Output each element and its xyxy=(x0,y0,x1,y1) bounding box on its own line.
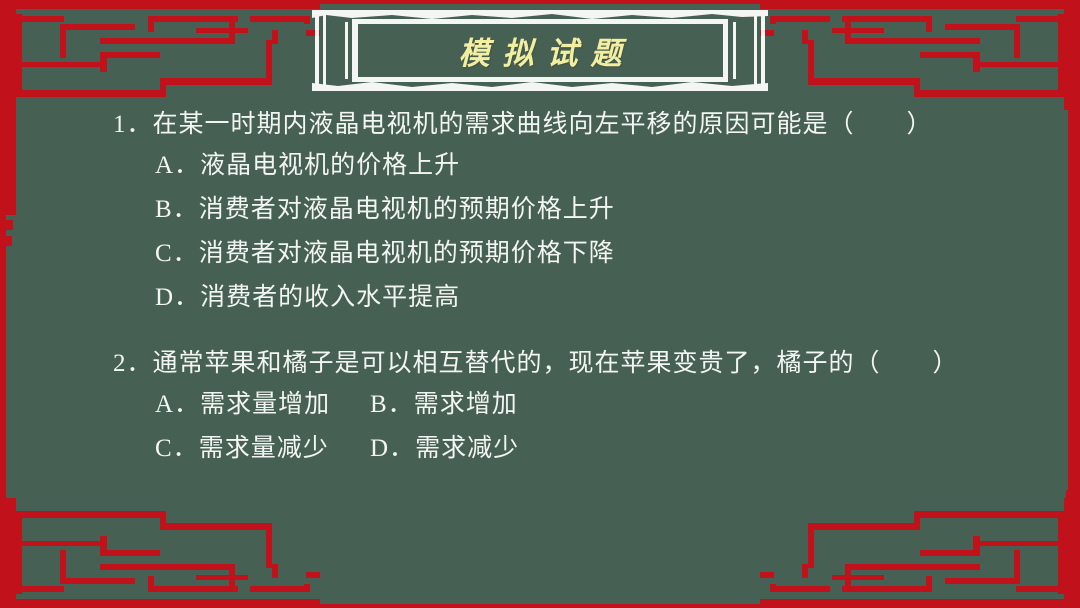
corner-ornament-top-right-icon xyxy=(760,0,1080,110)
question-2-option-a[interactable]: A．需求量增加 xyxy=(155,392,370,417)
question-1-option-d[interactable]: D．消费者的收入水平提高 xyxy=(155,285,1080,310)
question-1-option-b-label: B． xyxy=(155,197,199,222)
corner-ornament-top-left-icon xyxy=(0,0,320,110)
slide-canvas: 模拟试题 1．在某一时期内液晶电视机的需求曲线向左平移的原因可能是（ ） A．液… xyxy=(0,0,1080,608)
question-2-number: 2． xyxy=(113,350,153,377)
question-2-option-b[interactable]: B．需求增加 xyxy=(370,392,518,417)
question-1-option-a[interactable]: A．液晶电视机的价格上升 xyxy=(155,153,1080,178)
corner-ornament-bottom-left-icon xyxy=(0,498,320,608)
question-1-option-a-text: 液晶电视机的价格上升 xyxy=(200,152,460,179)
corner-ornament-bottom-right-icon xyxy=(760,498,1080,608)
question-1-stem-text: 在某一时期内液晶电视机的需求曲线向左平移的原因可能是（ ） xyxy=(153,111,933,138)
question-2-option-a-text: 需求量增加 xyxy=(200,391,330,418)
question-2-option-d-text: 需求减少 xyxy=(415,435,519,462)
question-1-option-d-text: 消费者的收入水平提高 xyxy=(200,284,460,311)
question-1-option-c-text: 消费者对液晶电视机的预期价格下降 xyxy=(199,240,615,267)
question-1-option-b[interactable]: B．消费者对液晶电视机的预期价格上升 xyxy=(155,197,1080,222)
question-2-option-a-label: A． xyxy=(155,392,200,417)
title-plaque: 模拟试题 xyxy=(312,10,768,91)
question-2-stem: 2．通常苹果和橘子是可以相互替代的，现在苹果变贵了，橘子的（ ） xyxy=(113,351,1080,376)
question-1-option-a-label: A． xyxy=(155,153,200,178)
question-1-stem: 1．在某一时期内液晶电视机的需求曲线向左平移的原因可能是（ ） xyxy=(113,112,1080,137)
question-content: 1．在某一时期内液晶电视机的需求曲线向左平移的原因可能是（ ） A．液晶电视机的… xyxy=(0,112,1080,480)
question-2-option-row-1: A．需求量增加 B．需求增加 xyxy=(155,392,1080,417)
question-2-option-c-text: 需求量减少 xyxy=(199,435,329,462)
question-1-number: 1． xyxy=(113,111,153,138)
question-1-option-b-text: 消费者对液晶电视机的预期价格上升 xyxy=(199,196,615,223)
question-2-option-c-label: C． xyxy=(155,436,199,461)
question-separator xyxy=(0,329,1080,351)
question-1-option-d-label: D． xyxy=(155,285,200,310)
question-2-option-d[interactable]: D．需求减少 xyxy=(370,436,519,461)
page-title: 模拟试题 xyxy=(312,10,768,91)
question-2-option-b-label: B． xyxy=(370,392,414,417)
question-2-option-d-label: D． xyxy=(370,436,415,461)
question-2-option-c[interactable]: C．需求量减少 xyxy=(155,436,370,461)
question-2-option-row-2: C．需求量减少 D．需求减少 xyxy=(155,436,1080,461)
question-2-option-b-text: 需求增加 xyxy=(414,391,518,418)
question-1-option-c-label: C． xyxy=(155,241,199,266)
question-2-stem-text: 通常苹果和橘子是可以相互替代的，现在苹果变贵了，橘子的（ ） xyxy=(153,350,959,377)
question-1-option-c[interactable]: C．消费者对液晶电视机的预期价格下降 xyxy=(155,241,1080,266)
